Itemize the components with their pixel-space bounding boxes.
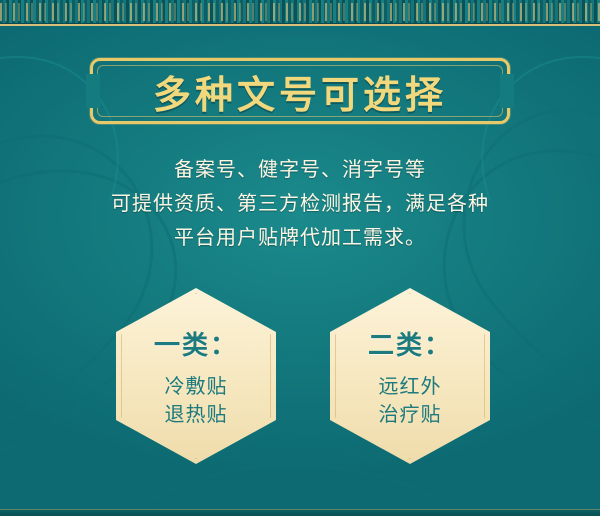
- category-2-item-1: 远红外: [379, 372, 442, 400]
- category-hexagon-row: 一类： 冷敷贴 退热贴 二类： 远红外 治疗贴: [0, 288, 600, 464]
- poster-root: 多种文号可选择 备案号、健字号、消字号等 可提供资质、第三方检测报告，满足各种 …: [0, 0, 600, 516]
- category-hexagon-1: 一类： 冷敷贴 退热贴: [116, 288, 276, 464]
- body-paragraph: 备案号、健字号、消字号等 可提供资质、第三方检测报告，满足各种 平台用户贴牌代加…: [0, 152, 600, 254]
- body-line-1: 备案号、健字号、消字号等: [0, 152, 600, 186]
- category-2-item-2: 治疗贴: [379, 400, 442, 428]
- top-ornament-pattern: [0, 3, 600, 21]
- body-line-3: 平台用户贴牌代加工需求。: [0, 220, 600, 254]
- category-2-heading: 二类：: [368, 325, 452, 362]
- hexagon-content: 一类： 冷敷贴 退热贴: [116, 288, 276, 464]
- category-1-heading: 一类：: [154, 325, 238, 362]
- category-1-item-2: 退热贴: [165, 400, 228, 428]
- top-ornament-band: [0, 0, 600, 26]
- title-plate: 多种文号可选择: [90, 58, 510, 124]
- bottom-ornament-band: [0, 509, 600, 516]
- page-title: 多种文号可选择: [90, 58, 510, 124]
- hexagon-content: 二类： 远红外 治疗贴: [330, 288, 490, 464]
- body-line-2: 可提供资质、第三方检测报告，满足各种: [0, 186, 600, 220]
- category-hexagon-2: 二类： 远红外 治疗贴: [330, 288, 490, 464]
- category-1-item-1: 冷敷贴: [165, 372, 228, 400]
